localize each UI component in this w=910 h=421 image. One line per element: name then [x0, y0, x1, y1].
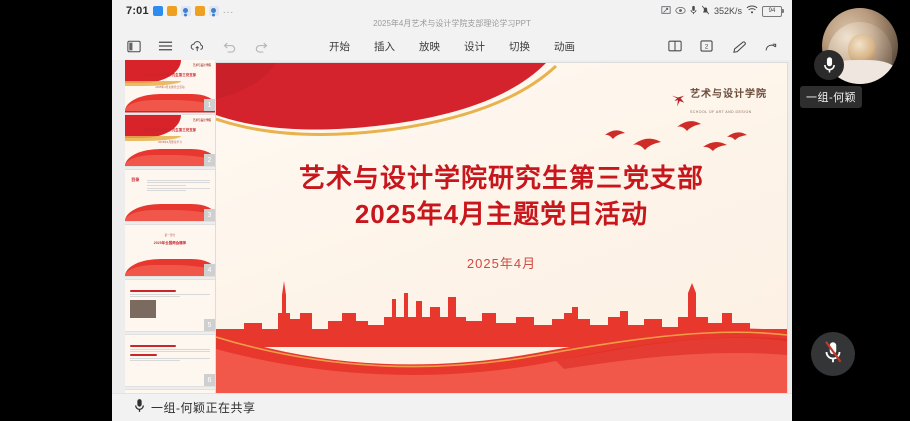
thumb-number: 4 — [204, 264, 215, 276]
slide-thumbnail-rail[interactable]: 艺术与设计学院 艺术与设计学院研究生第三党支部 2025年4月主题党日活动 1 … — [125, 60, 215, 405]
contact-icon — [167, 6, 177, 16]
slide-thumbnail-3[interactable]: 目录 3 — [125, 170, 215, 221]
sharing-status-inner: 一组-何颖正在共享 — [112, 398, 256, 418]
ribbon-tabs: 开始 插入 放映 设计 切换 动画 — [337, 39, 567, 54]
status-bar-right: 352K/s 94 — [661, 5, 792, 17]
slide-title-line2: 2025年4月主题党日活动 — [216, 197, 787, 233]
thumb-title: 2025年全国两会精神 — [132, 241, 208, 246]
thumb-body — [130, 343, 209, 363]
svg-text:2: 2 — [705, 44, 709, 51]
tab-animation[interactable]: 动画 — [554, 39, 575, 54]
panel-toggle-icon[interactable] — [126, 39, 141, 54]
share-icon[interactable] — [763, 39, 778, 54]
thumb-subtitle: 2025年4月理论学习 — [132, 141, 208, 145]
thumb-body — [130, 288, 209, 299]
cast-icon — [661, 5, 671, 17]
thumb-logo: 艺术与设计学院 — [193, 118, 211, 122]
thumb-subtitle: 2025年4月主题党日活动 — [132, 86, 208, 90]
slide-thumbnail-1[interactable]: 艺术与设计学院 艺术与设计学院研究生第三党支部 2025年4月主题党日活动 1 — [125, 60, 215, 111]
tab-design[interactable]: 设计 — [464, 39, 485, 54]
sharing-status-bar: 一组-何颖正在共享 — [112, 393, 792, 421]
cloud-upload-icon[interactable] — [190, 39, 205, 54]
thumb-title: 目录 — [131, 177, 139, 183]
tab-start[interactable]: 开始 — [329, 39, 350, 54]
redo-icon[interactable] — [254, 39, 269, 54]
thumb-title: 艺术与设计学院研究生第三党支部 — [132, 128, 208, 133]
thumb-wave — [125, 210, 215, 221]
thumb-photo — [130, 300, 155, 317]
split-view-icon[interactable] — [667, 39, 682, 54]
microphone-icon — [814, 50, 844, 80]
thumb-wave — [125, 155, 215, 166]
microphone-icon — [690, 5, 697, 17]
wifi-icon — [746, 5, 758, 17]
status-bar-left: 7:01 ... — [112, 5, 234, 17]
thumb-decoration — [125, 60, 181, 83]
status-clock: 7:01 — [126, 5, 149, 17]
editor-workspace: 艺术与设计学院 艺术与设计学院研究生第三党支部 2025年4月主题党日活动 1 … — [112, 60, 792, 421]
slide-subtitle: 2025年4月 — [216, 253, 787, 272]
document-title: 2025年4月艺术与设计学院支部理论学习PPT — [112, 18, 792, 29]
thumb-wave — [125, 265, 215, 276]
thumb-section-label: 第一部分 — [132, 234, 208, 238]
school-logo-text: 艺术与设计学院 SCHOOL OF ART AND DESIGN — [690, 85, 767, 117]
page-number-icon[interactable]: 2 — [699, 39, 714, 54]
slide-thumbnail-5[interactable]: 5 — [125, 280, 215, 331]
menu-icon[interactable] — [158, 39, 173, 54]
microphone-icon — [134, 398, 145, 418]
toolbar-left-icons — [112, 39, 269, 54]
meeting-screen-share-view: 7:01 ... — [0, 0, 910, 421]
slide-thumbnail-6[interactable]: 6 — [125, 335, 215, 386]
shared-screen-content: 7:01 ... — [112, 0, 792, 421]
thumb-number: 3 — [204, 209, 215, 221]
thumb-body — [147, 178, 210, 193]
network-rate: 352K/s — [714, 6, 742, 16]
toolbar-right-icons: 2 — [667, 39, 792, 54]
thumb-number: 1 — [204, 99, 215, 111]
slide-thumbnail-2[interactable]: 艺术与设计学院 艺术与设计学院研究生第三党支部 2025年4月理论学习 2 — [125, 115, 215, 166]
microphone-muted-icon — [822, 339, 844, 370]
contact-icon — [195, 6, 205, 16]
thumb-number: 6 — [204, 374, 215, 386]
overflow-dots: ... — [223, 7, 234, 15]
slide-thumbnail-4[interactable]: 第一部分 2025年全国两会精神 4 — [125, 225, 215, 276]
contact-icon — [209, 6, 219, 16]
slide-title-line1: 艺术与设计学院研究生第三党支部 — [216, 161, 787, 197]
school-logo: 艺术与设计学院 SCHOOL OF ART AND DESIGN — [670, 85, 767, 117]
battery-icon: 94 — [762, 6, 782, 17]
school-emblem-icon — [670, 93, 686, 109]
thumb-number: 2 — [204, 154, 215, 166]
contact-icon — [181, 6, 191, 16]
tab-transition[interactable]: 切换 — [509, 39, 530, 54]
school-logo-en: SCHOOL OF ART AND DESIGN — [690, 110, 752, 114]
letterbox-left — [0, 0, 112, 421]
pen-annotate-icon[interactable] — [731, 39, 746, 54]
tab-insert[interactable]: 插入 — [374, 39, 395, 54]
undo-icon[interactable] — [222, 39, 237, 54]
participant-video-panel[interactable]: 一组-何颖 — [792, 0, 910, 421]
thumb-logo: 艺术与设计学院 — [193, 63, 211, 67]
red-wave-decoration — [216, 303, 787, 393]
thumb-title: 艺术与设计学院研究生第三党支部 — [132, 73, 208, 78]
message-icon — [153, 6, 163, 16]
bell-off-icon — [701, 5, 710, 17]
tab-slideshow[interactable]: 放映 — [419, 39, 440, 54]
thumb-number: 5 — [204, 319, 215, 331]
mute-toggle-button[interactable] — [811, 332, 855, 376]
thumb-decoration — [125, 115, 181, 138]
participant-name-label: 一组-何颖 — [800, 86, 862, 108]
slide-canvas[interactable]: 艺术与设计学院 SCHOOL OF ART AND DESIGN 艺术与设计学院… — [216, 63, 787, 393]
editor-toolbar: 开始 插入 放映 设计 切换 动画 2 — [112, 32, 792, 60]
school-logo-cn: 艺术与设计学院 — [690, 89, 767, 100]
sharing-status-text: 一组-何颖正在共享 — [151, 399, 256, 416]
slide-title: 艺术与设计学院研究生第三党支部 2025年4月主题党日活动 — [216, 161, 787, 233]
thumb-wave — [125, 100, 215, 111]
eye-icon — [675, 6, 686, 17]
